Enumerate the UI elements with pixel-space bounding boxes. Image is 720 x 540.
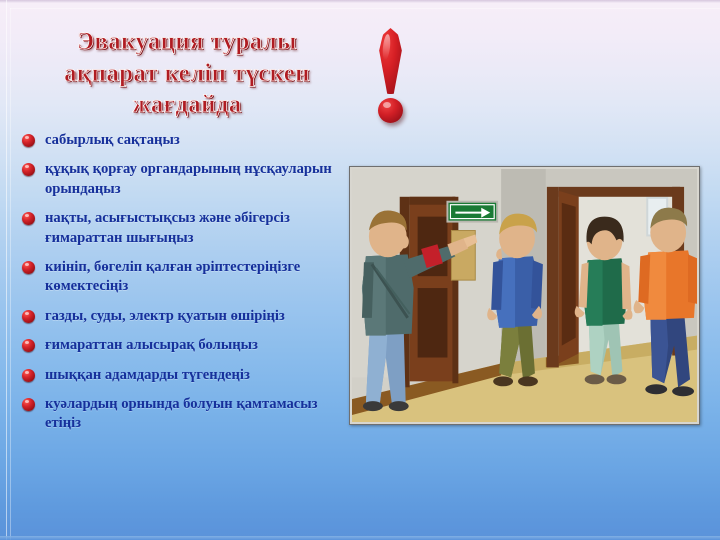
slide-bottom-edge — [0, 536, 720, 540]
exclamation-stem — [377, 28, 404, 94]
bullet-marker-icon — [22, 261, 35, 274]
illustration-graphic — [352, 169, 697, 422]
title-line-1: Эвакуация туралы — [22, 26, 352, 58]
title-line-2: ақпарат келіп түскен — [22, 58, 352, 90]
list-item-label: сабырлық сақтаңыз — [45, 131, 180, 150]
list-item: киініп, бөгеліп қалған әріптестеріңізге … — [22, 258, 342, 297]
list-item: шыққан адамдарды түгендеңіз — [22, 366, 342, 385]
illustration-canvas — [352, 169, 697, 422]
bullet-marker-icon — [22, 134, 35, 147]
instruction-list: сабырлық сақтаңыз құқық қорғау органдары… — [22, 131, 342, 444]
exclamation-dot — [378, 98, 403, 123]
bullet-marker-icon — [22, 398, 35, 411]
list-item: газды, суды, электр қуатын өшіріңіз — [22, 307, 342, 326]
list-item: куәлардың орнында болуын қамтамасыз етің… — [22, 395, 342, 434]
bullet-marker-icon — [22, 339, 35, 352]
list-item: нақты, асығыстықсыз және әбігерсіз ғимар… — [22, 209, 342, 248]
list-item-label: газды, суды, электр қуатын өшіріңіз — [45, 307, 285, 326]
list-item-label: ғимараттан алысырақ болыңыз — [45, 336, 258, 355]
list-item: ғимараттан алысырақ болыңыз — [22, 336, 342, 355]
evacuation-corridor-illustration — [349, 166, 700, 425]
slide-left-border — [6, 0, 7, 540]
list-item-label: киініп, бөгеліп қалған әріптестеріңізге … — [45, 258, 342, 297]
slide-title: Эвакуация туралы ақпарат келіп түскен жа… — [22, 26, 352, 121]
slide-inner-top-border — [10, 8, 720, 9]
list-item-label: шыққан адамдарды түгендеңіз — [45, 366, 250, 385]
exclamation-mark-icon — [368, 26, 414, 126]
presentation-slide: Эвакуация туралы ақпарат келіп түскен жа… — [0, 0, 720, 540]
bullet-marker-icon — [22, 310, 35, 323]
bullet-marker-icon — [22, 212, 35, 225]
list-item-label: нақты, асығыстықсыз және әбігерсіз ғимар… — [45, 209, 342, 248]
title-line-3: жағдайда — [22, 89, 352, 121]
list-item: құқық қорғау органдарының нұсқауларын ор… — [22, 160, 342, 199]
list-item-label: құқық қорғау органдарының нұсқауларын ор… — [45, 160, 342, 199]
slide-top-edge — [0, 0, 720, 3]
slide-inner-left-border — [10, 8, 11, 540]
list-item: сабырлық сақтаңыз — [22, 131, 342, 150]
bullet-marker-icon — [22, 163, 35, 176]
bullet-marker-icon — [22, 369, 35, 382]
list-item-label: куәлардың орнында болуын қамтамасыз етің… — [45, 395, 342, 434]
